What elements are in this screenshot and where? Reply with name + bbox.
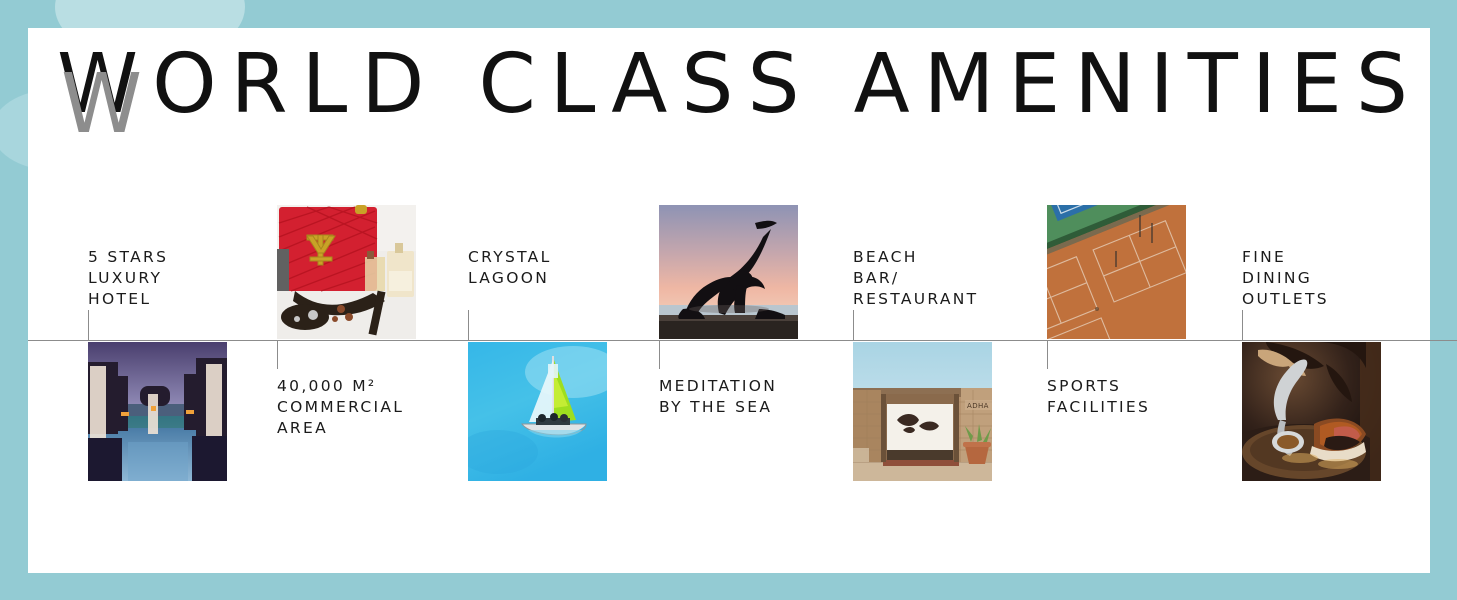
timeline-tick-commercial-area [277, 341, 278, 369]
timeline-item-label: FINE DINING OUTLETS [1242, 247, 1457, 310]
timeline-tick-luxury-hotel [88, 310, 89, 340]
sailboat-on-turquoise-water-photo [468, 342, 607, 481]
timeline-axis [28, 340, 1457, 341]
timeline-tick-fine-dining-outlets [1242, 310, 1243, 340]
aerial-tennis-courts-photo [1047, 205, 1186, 339]
page-title: W WORLD CLASS AMENITIES [57, 30, 1422, 140]
timeline-tick-crystal-lagoon [468, 310, 469, 340]
timeline-tick-beach-bar-restaurant [853, 310, 854, 340]
timeline-tick-meditation-by-the-sea [659, 341, 660, 369]
red-designer-handbag-photo [277, 205, 416, 339]
chef-plating-dish-photo [1242, 342, 1381, 481]
yoga-silhouette-at-sunset-photo [659, 205, 798, 339]
page-title-text: WORLD CLASS AMENITIES [57, 44, 1422, 126]
beach-bar-building-photo: ADHA BEAC [853, 342, 992, 481]
resort-pool-at-dusk-photo [88, 342, 227, 481]
timeline-tick-sports-facilities [1047, 341, 1048, 369]
svg-text:ADHA BEAC: ADHA BEAC [967, 402, 992, 410]
timeline-item-fine-dining-outlets[interactable]: FINE DINING OUTLETS [1242, 247, 1457, 310]
